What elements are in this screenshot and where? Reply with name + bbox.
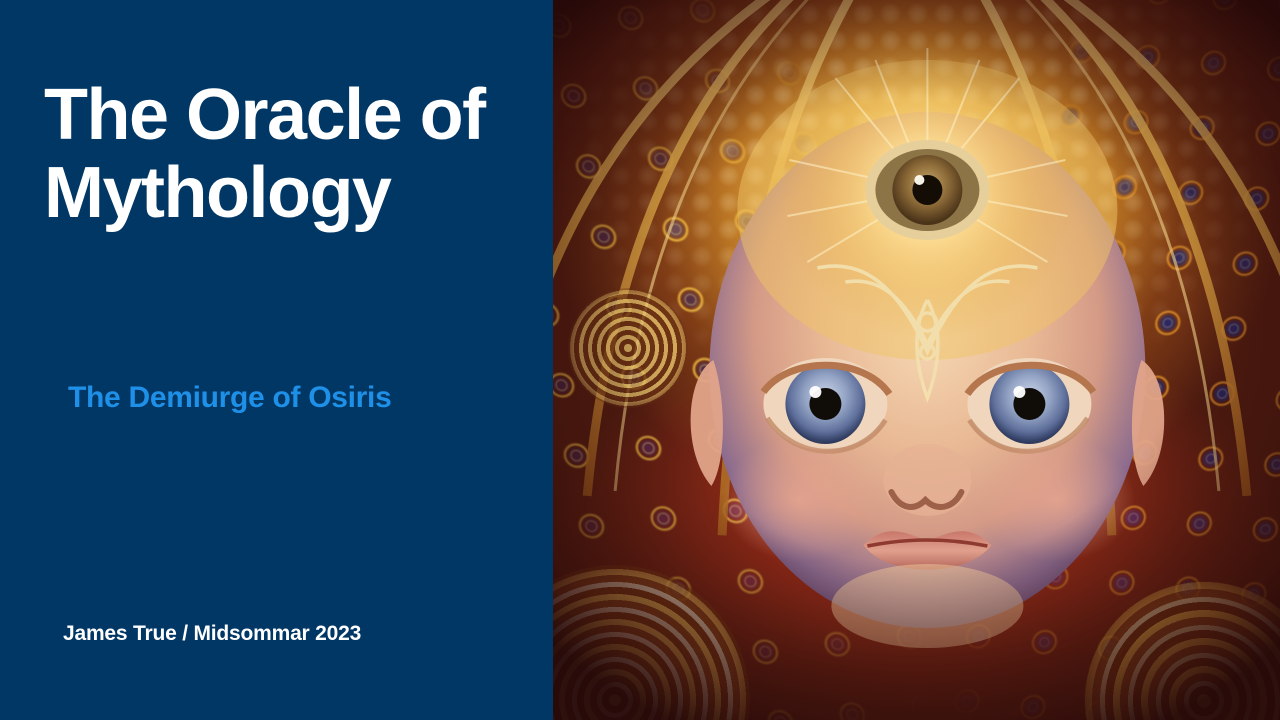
title-panel: The Oracle of Mythology The Demiurge of … [0, 0, 553, 720]
artwork-vignette [553, 0, 1280, 720]
slide-subtitle: The Demiurge of Osiris [68, 381, 391, 415]
slide-byline: James True / Midsommar 2023 [63, 622, 361, 646]
artwork-panel [553, 0, 1280, 720]
presentation-slide: The Oracle of Mythology The Demiurge of … [0, 0, 1280, 720]
slide-title: The Oracle of Mythology [44, 77, 544, 233]
artwork-image [553, 0, 1280, 720]
